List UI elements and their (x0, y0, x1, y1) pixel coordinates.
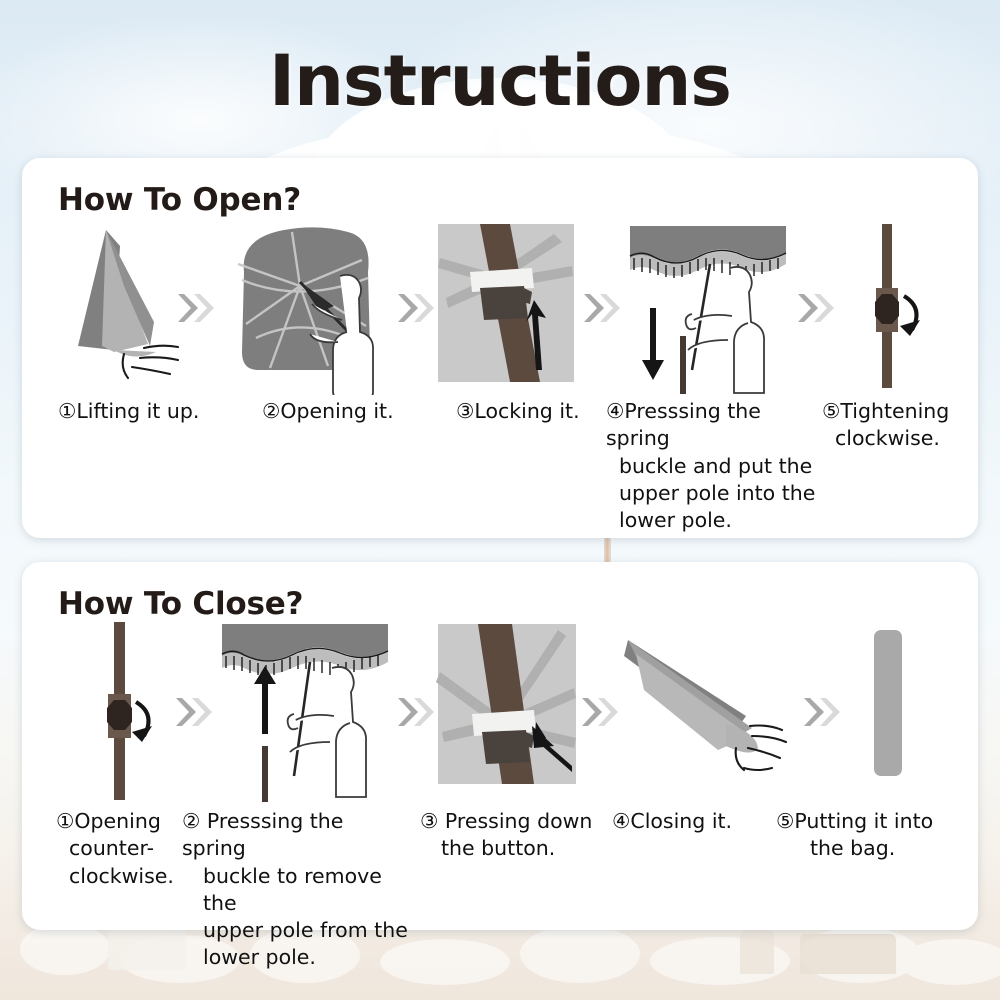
caption-line: buckle to remove the (182, 863, 412, 918)
step-icon-closing-umbrella (622, 632, 792, 782)
caption-line: buckle and put the (606, 453, 820, 480)
chevron-right-icon (800, 690, 842, 734)
caption-line: upper pole from the (182, 917, 412, 944)
steps-row-close (22, 620, 978, 802)
caption-line: lower pole. (606, 507, 820, 534)
step-icon-storage-bag (864, 626, 924, 786)
panel-how-to-close: How To Close? (22, 562, 978, 930)
chevron-right-icon (174, 286, 216, 330)
instruction-poster: Instructions How To Open? (0, 0, 1000, 1000)
step-icon-spring-buckle-insert (614, 220, 789, 395)
step-icon-person-opening-umbrella (222, 220, 392, 395)
beach-rock (108, 928, 186, 970)
caption-line: ⑤Tightening (822, 398, 982, 425)
chevron-right-icon (394, 690, 436, 734)
panel-how-to-open: How To Open? (22, 158, 978, 538)
caption-line: clockwise. (822, 425, 982, 452)
step-caption-5: ⑤Putting it into the bag. (776, 808, 956, 863)
bag-shape (874, 630, 902, 776)
chevron-right-icon (394, 286, 436, 330)
step-icon-locking-collar (436, 222, 576, 384)
caption-line: ④Presssing the spring (606, 398, 820, 453)
beach-post (740, 930, 774, 974)
step-caption-4: ④Presssing the spring buckle and put the… (606, 398, 820, 534)
step-icon-release-buckle-remove-pole (212, 620, 392, 802)
step-caption-5: ⑤Tightening clockwise. (822, 398, 982, 453)
step-caption-3: ③ Pressing down the button. (420, 808, 600, 863)
steps-row-open (22, 220, 978, 398)
caption-line: the bag. (776, 835, 956, 862)
caption-line: the button. (420, 835, 600, 862)
step-caption-2: ②Opening it. (262, 398, 452, 425)
step-caption-2: ② Presssing the spring buckle to remove … (182, 808, 412, 972)
step-caption-3: ③Locking it. (456, 398, 616, 425)
chevron-right-icon (578, 690, 620, 734)
step-caption-4: ④Closing it. (612, 808, 772, 835)
chevron-right-icon (172, 690, 214, 734)
step-icon-press-button (436, 622, 578, 786)
step-caption-1: ①Lifting it up. (58, 398, 248, 425)
step-icon-folded-umbrella-with-hand (58, 226, 188, 386)
panel-heading-open: How To Open? (58, 182, 301, 218)
panel-heading-close: How To Close? (58, 586, 303, 622)
caption-line: ③ Pressing down (420, 808, 600, 835)
page-title: Instructions (0, 46, 1000, 116)
caption-line: ② Presssing the spring (182, 808, 412, 863)
step-icon-tighten-clockwise (842, 220, 962, 392)
caption-line: upper pole into the (606, 480, 820, 507)
caption-line: ⑤Putting it into (776, 808, 956, 835)
chevron-right-icon (794, 286, 836, 330)
beach-rock (800, 934, 896, 974)
caption-line: lower pole. (182, 944, 412, 971)
